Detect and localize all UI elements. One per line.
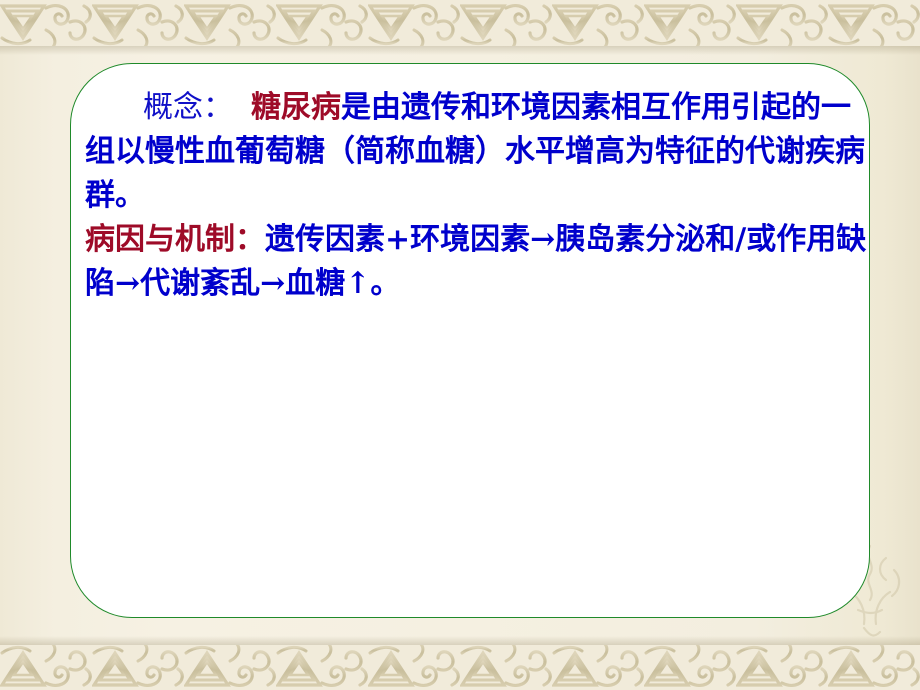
concept-label: 概念： (143, 90, 233, 125)
etiology-label: 病因与机制： (85, 222, 265, 257)
slide-body-text: 概念：糖尿病是由遗传和环境因素相互作用引起的一组以慢性血葡萄糖（简称血糖）水平增… (85, 86, 875, 306)
slide: 概念：糖尿病是由遗传和环境因素相互作用引起的一组以慢性血葡萄糖（简称血糖）水平增… (0, 0, 920, 690)
bottom-band-shadow (0, 636, 920, 645)
bottom-ornament-band (0, 643, 920, 690)
top-ornament-band (0, 0, 920, 48)
content-card: 概念：糖尿病是由遗传和环境因素相互作用引起的一组以慢性血葡萄糖（简称血糖）水平增… (70, 63, 870, 618)
diabetes-highlight: 糖尿病 (251, 90, 341, 125)
top-band-shadow (0, 46, 920, 55)
